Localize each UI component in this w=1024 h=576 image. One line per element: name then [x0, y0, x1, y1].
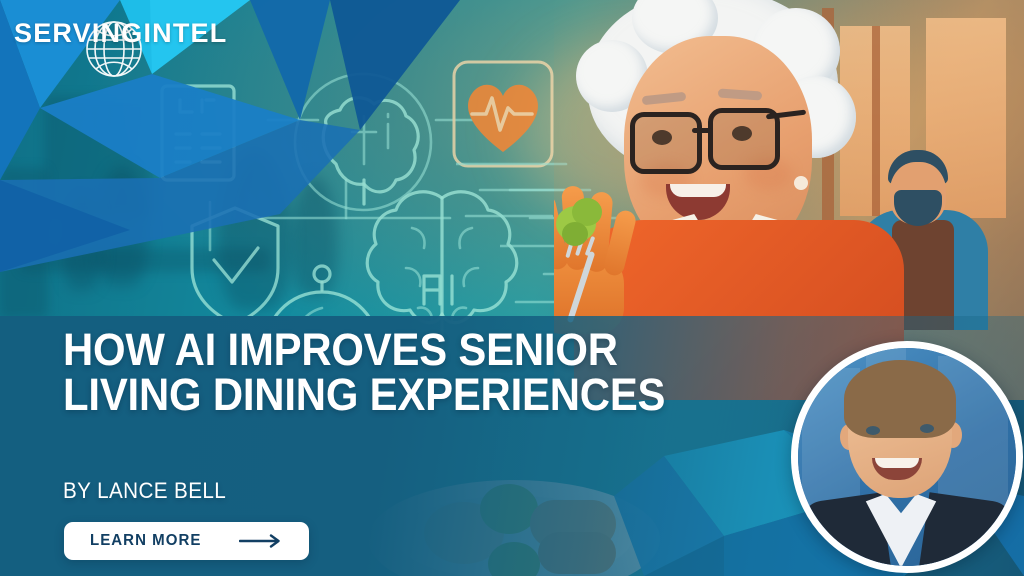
eye [920, 424, 934, 433]
brand-name: SERVINGINTEL [14, 18, 227, 49]
avatar [791, 341, 1023, 573]
arrow-right-icon [239, 534, 285, 548]
eyebrow [914, 412, 942, 418]
teeth [875, 458, 919, 468]
page-title: How AI Improves Senior Living Dining Exp… [63, 328, 714, 417]
eye [866, 426, 880, 435]
author-byline: By Lance Bell [63, 478, 226, 504]
learn-more-label: Learn More [90, 532, 201, 550]
earring [794, 176, 808, 190]
avatar-hair [844, 360, 956, 438]
eye [652, 130, 672, 145]
eyebrow [860, 414, 888, 420]
broccoli-floret [562, 222, 588, 246]
eyeglass-bridge [692, 128, 712, 133]
promotional-banner: SERVINGINTEL How AI Improves Senior Livi… [0, 0, 1024, 576]
eye [732, 126, 752, 141]
teeth [670, 184, 726, 197]
learn-more-button[interactable]: Learn More [64, 522, 309, 560]
